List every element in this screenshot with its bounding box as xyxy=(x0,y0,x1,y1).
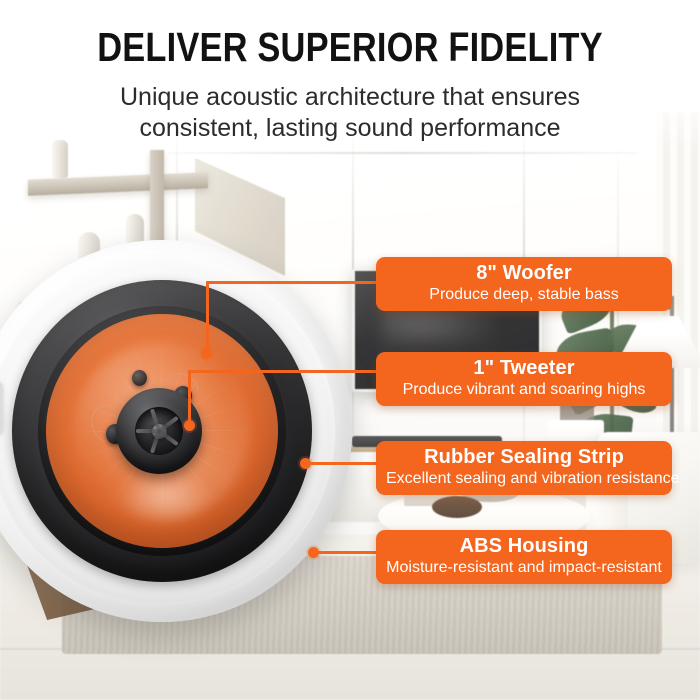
cone-gloss xyxy=(116,468,213,524)
callout-tweeter-badge[interactable]: 1" Tweeter Produce vibrant and soaring h… xyxy=(376,352,672,406)
callout-abs-badge[interactable]: ABS Housing Moisture-resistant and impac… xyxy=(376,530,672,584)
callout-rubber-subtitle: Excellent sealing and vibration resistan… xyxy=(386,469,662,488)
callout-abs-lead-horizontal xyxy=(316,551,378,554)
callout-tweeter-lead-vertical xyxy=(188,370,191,425)
callout-woofer-lead-horizontal xyxy=(206,281,378,284)
page-subtitle: Unique acoustic architecture that ensure… xyxy=(70,82,630,144)
callout-rubber-dot xyxy=(300,458,311,469)
coffee-table-bowl xyxy=(432,496,482,518)
subtitle-line-2: consistent, lasting sound performance xyxy=(70,113,630,144)
callout-woofer-badge[interactable]: 8" Woofer Produce deep, stable bass xyxy=(376,257,672,311)
callout-tweeter-title: 1" Tweeter xyxy=(386,357,662,380)
tweeter-aperture xyxy=(135,407,183,455)
product-feature-graphic: DELIVER SUPERIOR FIDELITY Unique acousti… xyxy=(0,0,700,700)
callout-abs-subtitle: Moisture-resistant and impact-resistant xyxy=(386,558,662,577)
speaker-terminal-block xyxy=(0,382,2,432)
callout-rubber-title: Rubber Sealing Strip xyxy=(386,446,662,469)
page-headline: DELIVER SUPERIOR FIDELITY xyxy=(56,24,644,71)
cabinet-seam-horizontal xyxy=(168,152,638,154)
callout-woofer-title: 8" Woofer xyxy=(386,262,662,285)
callout-abs-dot xyxy=(308,547,319,558)
callout-rubber-badge[interactable]: Rubber Sealing Strip Excellent sealing a… xyxy=(376,441,672,495)
decor-vase xyxy=(52,140,68,178)
callout-abs-title: ABS Housing xyxy=(386,535,662,558)
tweeter-mount-nub xyxy=(132,370,147,386)
speaker-product-image xyxy=(0,240,352,622)
callout-woofer-dot xyxy=(201,348,212,359)
subtitle-line-1: Unique acoustic architecture that ensure… xyxy=(120,83,580,111)
callout-woofer-lead-vertical xyxy=(206,281,209,353)
callout-rubber-lead-horizontal xyxy=(308,462,378,465)
callout-tweeter-subtitle: Produce vibrant and soaring highs xyxy=(386,380,662,399)
callout-tweeter-dot xyxy=(184,420,195,431)
callout-woofer-subtitle: Produce deep, stable bass xyxy=(386,285,662,304)
callout-tweeter-lead-horizontal xyxy=(188,370,378,373)
